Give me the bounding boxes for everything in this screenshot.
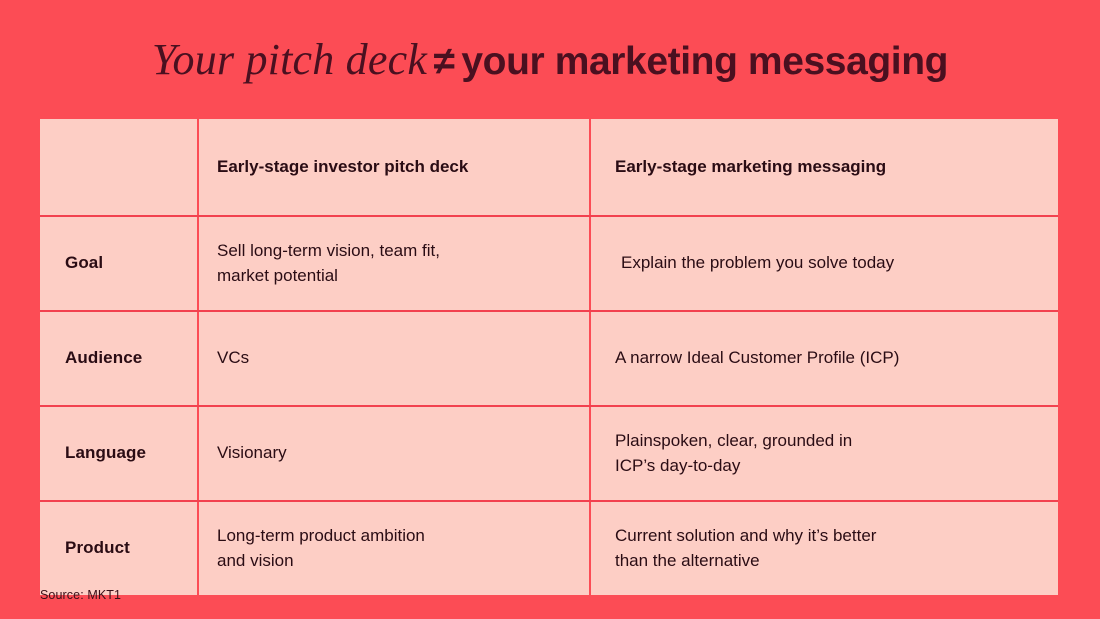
cell-line: Visionary xyxy=(217,441,575,465)
cell-line: VCs xyxy=(217,346,575,370)
cell-audience-marketing: A narrow Ideal Customer Profile (ICP) xyxy=(590,311,1058,406)
header-cell-marketing-messaging: Early-stage marketing messaging xyxy=(590,119,1058,216)
cell-line: Plainspoken, clear, grounded in xyxy=(615,429,1044,453)
cell-product-pitch-deck: Long-term product ambition and vision xyxy=(198,501,590,595)
source-attribution: Source: MKT1 xyxy=(40,588,121,602)
cell-language-pitch-deck: Visionary xyxy=(198,406,590,501)
table-header-row: Early-stage investor pitch deck Early-st… xyxy=(40,119,1058,216)
row-label-audience: Audience xyxy=(40,311,198,406)
slide-canvas: Your pitch deck ≠ your marketing messagi… xyxy=(0,0,1100,619)
cell-audience-pitch-deck: VCs xyxy=(198,311,590,406)
row-label-goal: Goal xyxy=(40,216,198,311)
cell-line: Explain the problem you solve today xyxy=(621,251,1044,275)
cell-line: and vision xyxy=(217,549,575,573)
table-row: Goal Sell long-term vision, team fit, ma… xyxy=(40,216,1058,311)
cell-line: Sell long-term vision, team fit, xyxy=(217,239,575,263)
cell-product-marketing: Current solution and why it’s better tha… xyxy=(590,501,1058,595)
page-title: Your pitch deck ≠ your marketing messagi… xyxy=(0,36,1100,84)
cell-line: market potential xyxy=(217,264,575,288)
row-label-language: Language xyxy=(40,406,198,501)
comparison-table-container: Early-stage investor pitch deck Early-st… xyxy=(40,119,1058,578)
cell-line: A narrow Ideal Customer Profile (ICP) xyxy=(615,346,1044,370)
cell-line: Current solution and why it’s better xyxy=(615,524,1044,548)
cell-goal-pitch-deck: Sell long-term vision, team fit, market … xyxy=(198,216,590,311)
comparison-table: Early-stage investor pitch deck Early-st… xyxy=(40,119,1058,595)
row-label-product: Product xyxy=(40,501,198,595)
cell-line: ICP’s day-to-day xyxy=(615,454,1044,478)
title-serif-part: Your pitch deck xyxy=(152,35,427,84)
cell-language-marketing: Plainspoken, clear, grounded in ICP’s da… xyxy=(590,406,1058,501)
title-sans-part: your marketing messaging xyxy=(461,40,948,83)
cell-line: than the alternative xyxy=(615,549,1044,573)
header-cell-blank xyxy=(40,119,198,216)
not-equal-symbol: ≠ xyxy=(432,40,457,83)
table-row: Language Visionary Plainspoken, clear, g… xyxy=(40,406,1058,501)
header-cell-pitch-deck: Early-stage investor pitch deck xyxy=(198,119,590,216)
table-row: Product Long-term product ambition and v… xyxy=(40,501,1058,595)
cell-goal-marketing: Explain the problem you solve today xyxy=(590,216,1058,311)
table-row: Audience VCs A narrow Ideal Customer Pro… xyxy=(40,311,1058,406)
cell-line: Long-term product ambition xyxy=(217,524,575,548)
